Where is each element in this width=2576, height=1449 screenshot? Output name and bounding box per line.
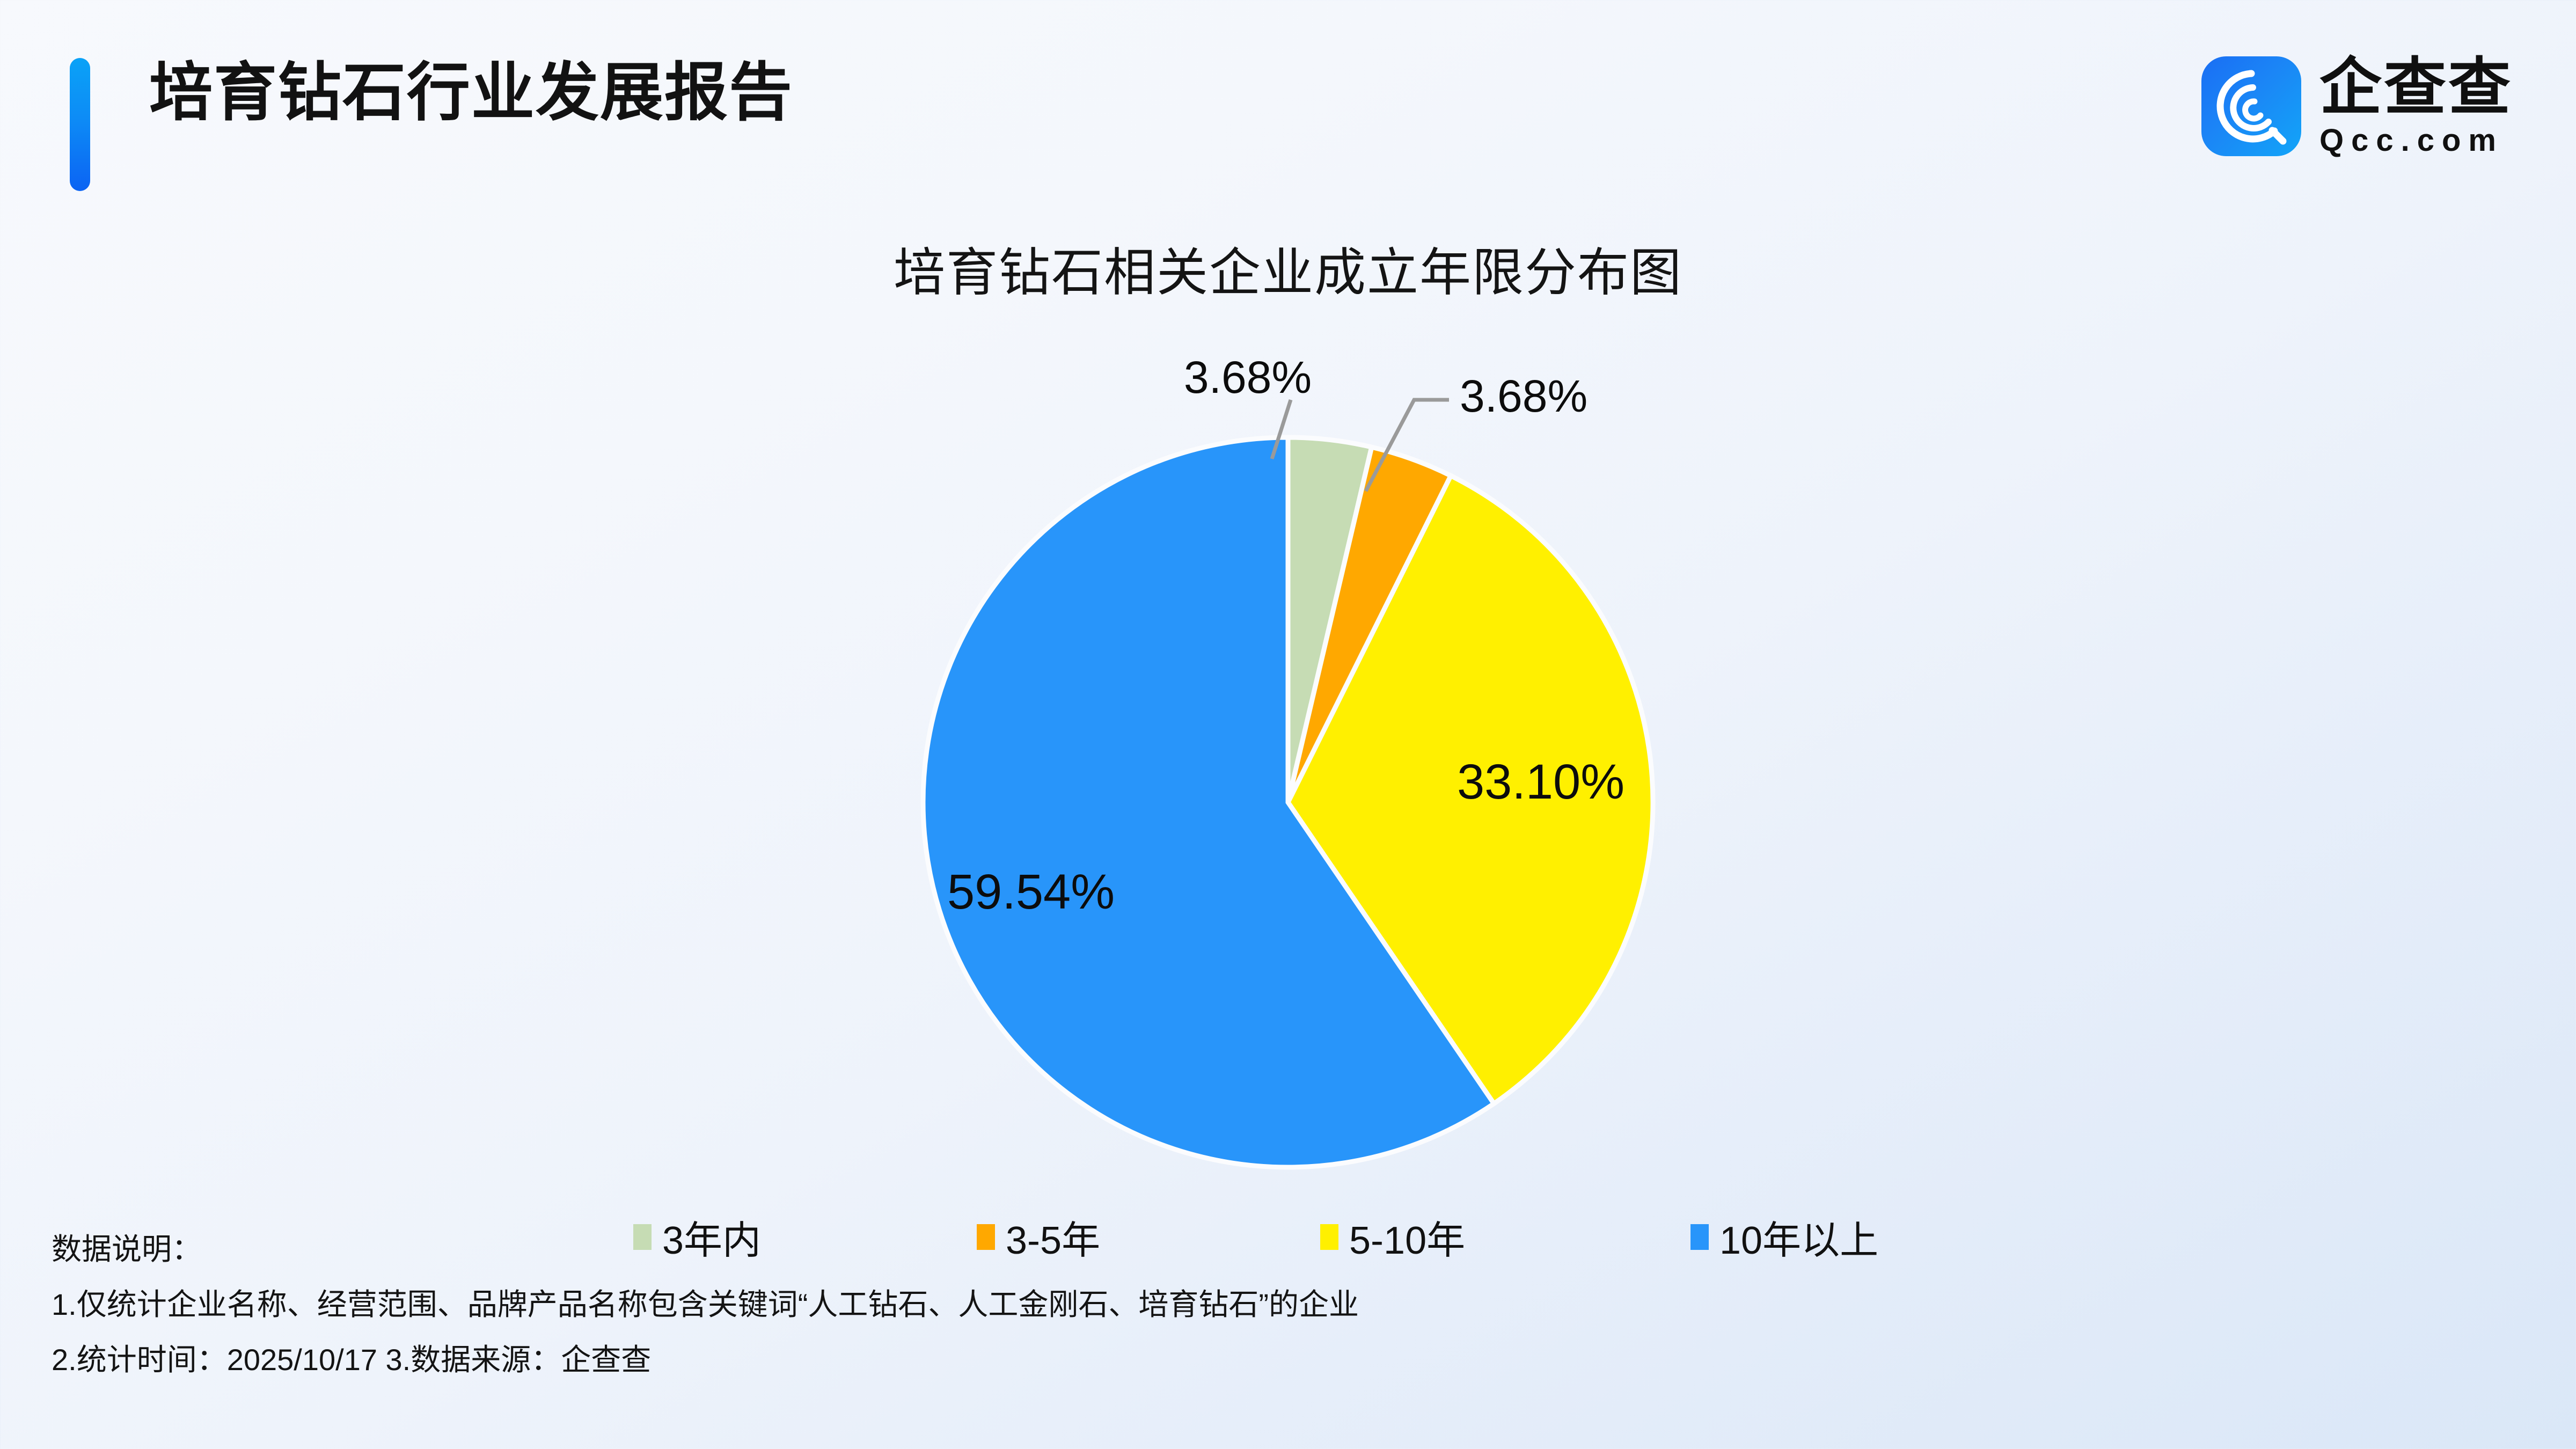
pie-slice-3-5年[interactable]	[1288, 447, 1451, 802]
title-accent-bar	[70, 58, 90, 191]
notes-heading: 数据说明：	[52, 1234, 1984, 1264]
qcc-logo-icon	[2201, 56, 2301, 156]
note-line-2: 2.统计时间：2025/10/17 3.数据来源：企查查	[52, 1345, 1984, 1375]
pie-label-3-5-years: 3.68%	[1460, 370, 1587, 422]
page-title: 培育钻石行业发展报告	[149, 54, 793, 133]
pie-label-10-plus-years: 59.54%	[947, 864, 1115, 920]
brand-name-en: Qcc.com	[2319, 123, 2504, 158]
pie-label-5-10-years: 33.10%	[1457, 754, 1624, 810]
pie-leader-line-1	[1272, 400, 1291, 459]
page-header: 培育钻石行业发展报告 企查查 Qcc.com	[0, 0, 2576, 215]
pie-slice-10年以上[interactable]	[923, 437, 1494, 1167]
brand-logo: 企查查 Qcc.com	[2201, 55, 2513, 158]
chart-title: 培育钻石相关企业成立年限分布图	[0, 231, 2576, 305]
data-notes: 数据说明： 1.仅统计企业名称、经营范围、品牌产品名称包含关键词“人工钻石、人工…	[52, 1234, 1984, 1375]
pie-label-3-years: 3.68%	[1184, 352, 1312, 404]
brand-name-cn: 企查查	[2319, 55, 2513, 120]
pie-leader-line-2	[1366, 400, 1449, 491]
note-line-1: 1.仅统计企业名称、经营范围、品牌产品名称包含关键词“人工钻石、人工金刚石、培育…	[52, 1290, 1984, 1320]
pie-slice-3年内[interactable]	[1288, 437, 1372, 802]
brand-text: 企查查 Qcc.com	[2319, 55, 2513, 158]
